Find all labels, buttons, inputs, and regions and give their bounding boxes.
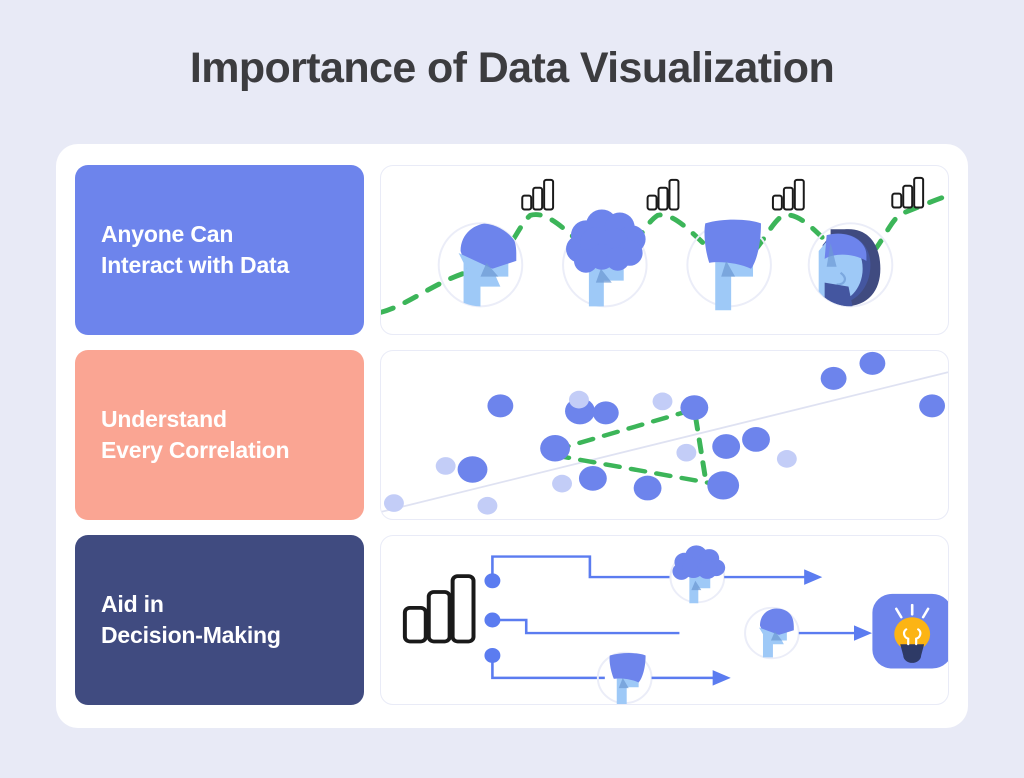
scatter-point [540,435,570,462]
scatter-point [707,471,739,499]
label-card-text: Anyone Can Interact with Data [101,219,289,281]
content-board: Anyone Can Interact with Data [56,144,968,728]
scatter-point [919,394,945,417]
flow-node-bottom [484,648,500,663]
label-card-anyone-can-interact[interactable]: Anyone Can Interact with Data [75,165,364,335]
avatar-long-hair [809,223,893,306]
label-card-text: Aid in Decision-Making [101,589,281,651]
scatter-correlation-panel [380,350,949,520]
label-card-understand-correlation[interactable]: Understand Every Correlation [75,350,364,520]
infographic-page: Importance of Data Visualization Anyone … [0,0,1024,778]
scatter-point [487,394,513,417]
decision-flow-panel [380,535,949,705]
bar-chart-icon-3 [773,180,804,210]
flow-arrows [652,577,857,678]
scatter-point [634,476,662,501]
bar-chart-icon-2 [648,180,679,210]
label-card-text: Understand Every Correlation [101,404,289,466]
scatter-point [384,494,404,512]
bar-chart-icon-1 [522,180,553,210]
scatter-point [742,427,770,452]
scatter-point [680,395,708,420]
decision-flow-illustration [381,536,948,704]
scatter-point [477,497,497,515]
people-interacting-illustration [381,166,948,334]
scatter-point [593,401,619,424]
scatter-point [569,391,589,409]
avatar-straight-hair [439,223,523,309]
curly-hair-shape [566,209,646,272]
flow-avatar-straight-hair [745,608,799,658]
flow-avatar-curly-hair [670,545,725,603]
lightbulb-icon [872,594,948,669]
scatter-point [777,450,797,468]
bar-chart-icon-4 [892,178,923,208]
scatter-plot [381,351,948,519]
people-interacting-panel [380,165,949,335]
flow-node-top [484,573,500,588]
page-title: Importance of Data Visualization [0,44,1024,93]
flow-avatar-bob-hair [598,653,652,704]
scatter-point [712,434,740,459]
row-aid-decision-making: Aid in Decision-Making [75,535,949,705]
scatter-point [436,457,456,475]
scatter-point [552,475,572,493]
scatter-point [458,456,488,483]
flow-connectors [492,557,679,678]
label-card-aid-decision-making[interactable]: Aid in Decision-Making [75,535,364,705]
row-understand-correlation: Understand Every Correlation [75,350,949,520]
bar-chart-icon-large [405,576,474,641]
flow-node-middle [484,613,500,628]
row-anyone-can-interact: Anyone Can Interact with Data [75,165,949,335]
scatter-point [859,352,885,375]
scatter-point [821,367,847,390]
scatter-point [579,466,607,491]
scatter-point [653,393,673,411]
avatar-curly-hair [563,209,647,306]
avatar-bob-hair [687,220,771,311]
scatter-point [676,444,696,462]
